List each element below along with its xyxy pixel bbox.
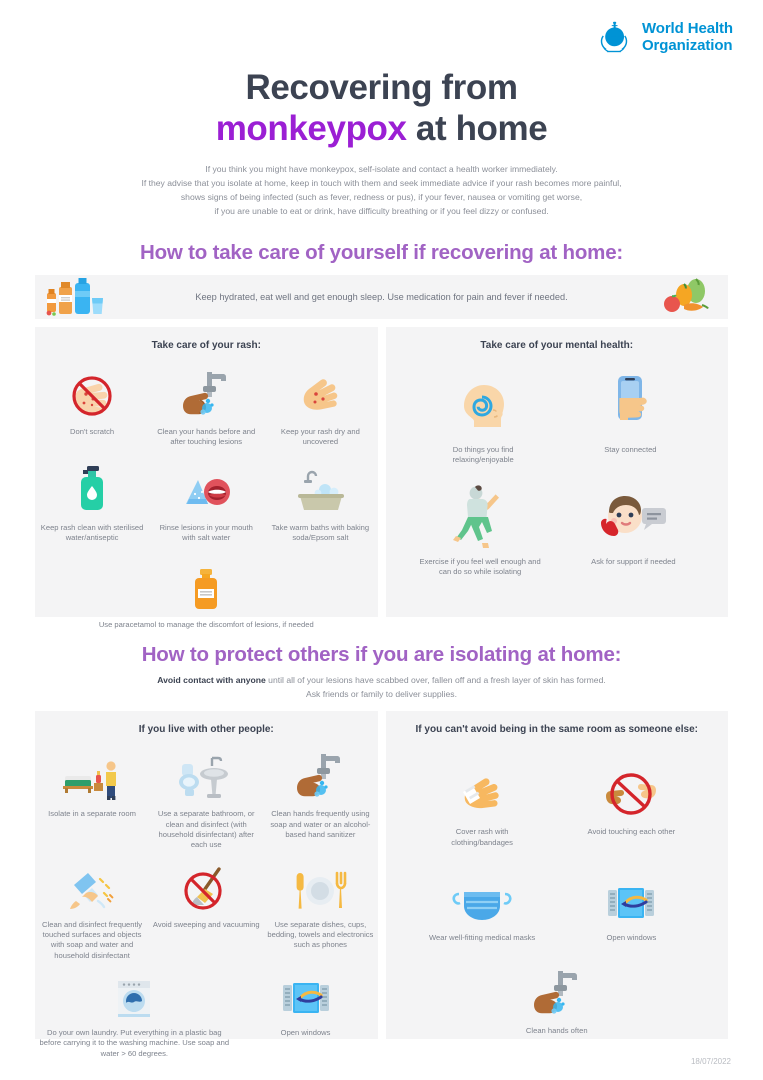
- tip-cover-rash: Cover rash with clothing/bandages: [408, 762, 557, 848]
- tip-stay-connected: Stay connected: [557, 372, 704, 455]
- handwashing-tap-icon: [528, 965, 586, 1019]
- tip-caption: Exercise if you feel well enough and can…: [415, 557, 545, 578]
- tip-separate-bathroom: Use a separate bathroom, or clean and di…: [150, 748, 263, 850]
- tip-caption: Wear well-fitting medical masks: [429, 933, 535, 943]
- title-line-2-tail: at home: [407, 109, 548, 148]
- tip-caption: Clean hands often: [526, 1026, 588, 1036]
- tip-caption: Isolate in a separate room: [48, 809, 136, 819]
- tip-avoid-touching: Avoid touching each other: [557, 762, 706, 837]
- tip-caption: Keep your rash dry and uncovered: [267, 427, 374, 448]
- salt-water-mouth-icon: [178, 462, 234, 516]
- no-sweeping-icon: [179, 859, 233, 913]
- intro-line-3: shows signs of being infected (such as f…: [82, 191, 682, 205]
- relaxing-mind-icon: [452, 372, 514, 438]
- tip-caption: Use a separate bathroom, or clean and di…: [153, 809, 260, 850]
- open-window-icon: [604, 872, 658, 926]
- tip-caption: Avoid touching each other: [588, 827, 676, 837]
- publication-date: 18/07/2022: [691, 1057, 731, 1066]
- intro-line-1: If you think you might have monkeypox, s…: [82, 163, 682, 177]
- exercise-yoga-icon: [448, 484, 512, 550]
- hydration-banner: Keep hydrated, eat well and get enough s…: [35, 275, 728, 319]
- tip-caption: Don't scratch: [70, 427, 114, 437]
- tip-caption: Stay connected: [604, 445, 656, 455]
- medicine-bottle-water-icon: [45, 277, 107, 317]
- tip-caption: Take warm baths with baking soda/Epsom s…: [267, 523, 374, 544]
- tip-caption: Clean hands frequently using soap and wa…: [267, 809, 374, 840]
- section-1-panels: Take care of your rash:: [35, 327, 728, 617]
- separate-room-icon: [61, 748, 123, 802]
- who-logo-line2: Organization: [642, 38, 733, 55]
- intro-line-4: if you are unable to eat or drink, have …: [82, 205, 682, 219]
- open-window-icon: [279, 967, 333, 1021]
- intro-line-2: If they advise that you isolate at home,…: [82, 177, 682, 191]
- infographic-page: World Health Organization Recovering fro…: [0, 0, 763, 1080]
- tip-caption: Open windows: [606, 933, 656, 943]
- section-2-note-line2: Ask friends or family to deliver supplie…: [52, 688, 712, 702]
- no-touching-hands-icon: [602, 762, 660, 820]
- bathtub-icon: [292, 462, 348, 516]
- separate-dishes-icon: [292, 859, 348, 913]
- tip-keep-rash-dry: Keep your rash dry and uncovered: [264, 366, 377, 448]
- tip-ask-support: Ask for support if needed: [557, 484, 710, 567]
- tip-dont-scratch: Don't scratch: [36, 366, 149, 437]
- who-logo-line1: World Health: [642, 21, 733, 38]
- tip-clean-hands-frequently: Clean hands frequently using soap and wa…: [264, 748, 377, 840]
- section-2-heading: How to protect others if you are isolati…: [0, 643, 763, 667]
- section-2-panels: If you live with other people:: [35, 711, 728, 1039]
- paracetamol-bottle-icon: [189, 559, 223, 613]
- tip-caption: Use paracetamol to manage the discomfort…: [99, 620, 314, 630]
- handwashing-tap-icon: [177, 366, 235, 420]
- fruits-vegetables-icon: [662, 277, 716, 317]
- tip-caption: Keep rash clean with sterilised water/an…: [39, 523, 146, 544]
- antiseptic-bottle-icon: [71, 462, 113, 516]
- tip-open-windows-right: Open windows: [557, 872, 706, 943]
- tip-own-laundry: Do your own laundry. Put everything in a…: [35, 967, 234, 1059]
- panel-live-title: If you live with other people:: [35, 711, 378, 736]
- tip-caption: Ask for support if needed: [591, 557, 675, 567]
- disinfect-surfaces-icon: [64, 859, 120, 913]
- tip-caption: Clean and disinfect frequently touched s…: [39, 920, 146, 961]
- tip-caption: Cover rash with clothing/bandages: [427, 827, 537, 848]
- washing-machine-icon: [112, 967, 156, 1021]
- panel-mental-health: Take care of your mental health: Do thin…: [386, 327, 729, 617]
- section-1-heading: How to take care of yourself if recoveri…: [0, 241, 763, 265]
- tip-isolate-room: Isolate in a separate room: [36, 748, 149, 819]
- ask-for-support-icon: [598, 484, 668, 550]
- title-line-1: Recovering from: [245, 68, 517, 107]
- tip-relaxing: Do things you find relaxing/enjoyable: [410, 372, 557, 466]
- tip-caption: Do things you find relaxing/enjoyable: [428, 445, 538, 466]
- tip-clean-hands: Clean your hands before and after touchi…: [150, 366, 263, 448]
- hydration-banner-text: Keep hydrated, eat well and get enough s…: [35, 292, 728, 302]
- tip-paracetamol: Use paracetamol to manage the discomfort…: [35, 559, 378, 630]
- tip-warm-baths: Take warm baths with baking soda/Epsom s…: [264, 462, 377, 544]
- tip-keep-rash-clean: Keep rash clean with sterilised water/an…: [36, 462, 149, 544]
- tip-caption: Open windows: [281, 1028, 331, 1038]
- tip-rinse-lesions: Rinse lesions in your mouth with salt wa…: [150, 462, 263, 544]
- bandaged-hand-icon: [453, 762, 511, 820]
- title-highlight: monkeypox: [216, 109, 407, 148]
- section-2-note-rest: until all of your lesions have scabbed o…: [266, 675, 606, 685]
- tip-caption: Do your own laundry. Put everything in a…: [39, 1028, 229, 1059]
- tip-disinfect-surfaces: Clean and disinfect frequently touched s…: [36, 859, 149, 961]
- tip-caption: Avoid sweeping and vacuuming: [153, 920, 260, 930]
- tip-caption: Use separate dishes, cups, bedding, towe…: [267, 920, 374, 951]
- medical-mask-icon: [451, 872, 513, 926]
- panel-rash-care: Take care of your rash:: [35, 327, 378, 617]
- who-logo: World Health Organization: [594, 18, 733, 58]
- open-hand-rash-icon: [294, 366, 346, 420]
- tip-open-windows-left: Open windows: [234, 967, 378, 1038]
- tip-caption: Rinse lesions in your mouth with salt wa…: [153, 523, 260, 544]
- handwashing-tap-icon: [291, 748, 349, 802]
- panel-rash-title: Take care of your rash:: [35, 327, 378, 352]
- panel-live-with-others: If you live with other people:: [35, 711, 378, 1039]
- tip-wear-mask: Wear well-fitting medical masks: [408, 872, 557, 943]
- tip-avoid-sweeping: Avoid sweeping and vacuuming: [150, 859, 263, 930]
- who-emblem-icon: [594, 18, 634, 58]
- who-logo-text: World Health Organization: [642, 21, 733, 55]
- section-2-note: Avoid contact with anyone until all of y…: [52, 674, 712, 702]
- tip-exercise: Exercise if you feel well enough and can…: [404, 484, 557, 578]
- tip-caption: Clean your hands before and after touchi…: [153, 427, 260, 448]
- tip-separate-dishes: Use separate dishes, cups, bedding, towe…: [264, 859, 377, 951]
- panel-same-room: If you can't avoid being in the same roo…: [386, 711, 729, 1039]
- hand-holding-phone-icon: [604, 372, 656, 438]
- separate-bathroom-icon: [176, 748, 236, 802]
- intro-paragraph: If you think you might have monkeypox, s…: [82, 163, 682, 219]
- panel-same-room-title: If you can't avoid being in the same roo…: [386, 711, 729, 736]
- no-scratching-icon: [66, 366, 118, 420]
- panel-mental-title: Take care of your mental health:: [386, 327, 729, 352]
- section-2-note-bold: Avoid contact with anyone: [157, 675, 266, 685]
- tip-clean-hands-often: Clean hands often: [386, 965, 729, 1036]
